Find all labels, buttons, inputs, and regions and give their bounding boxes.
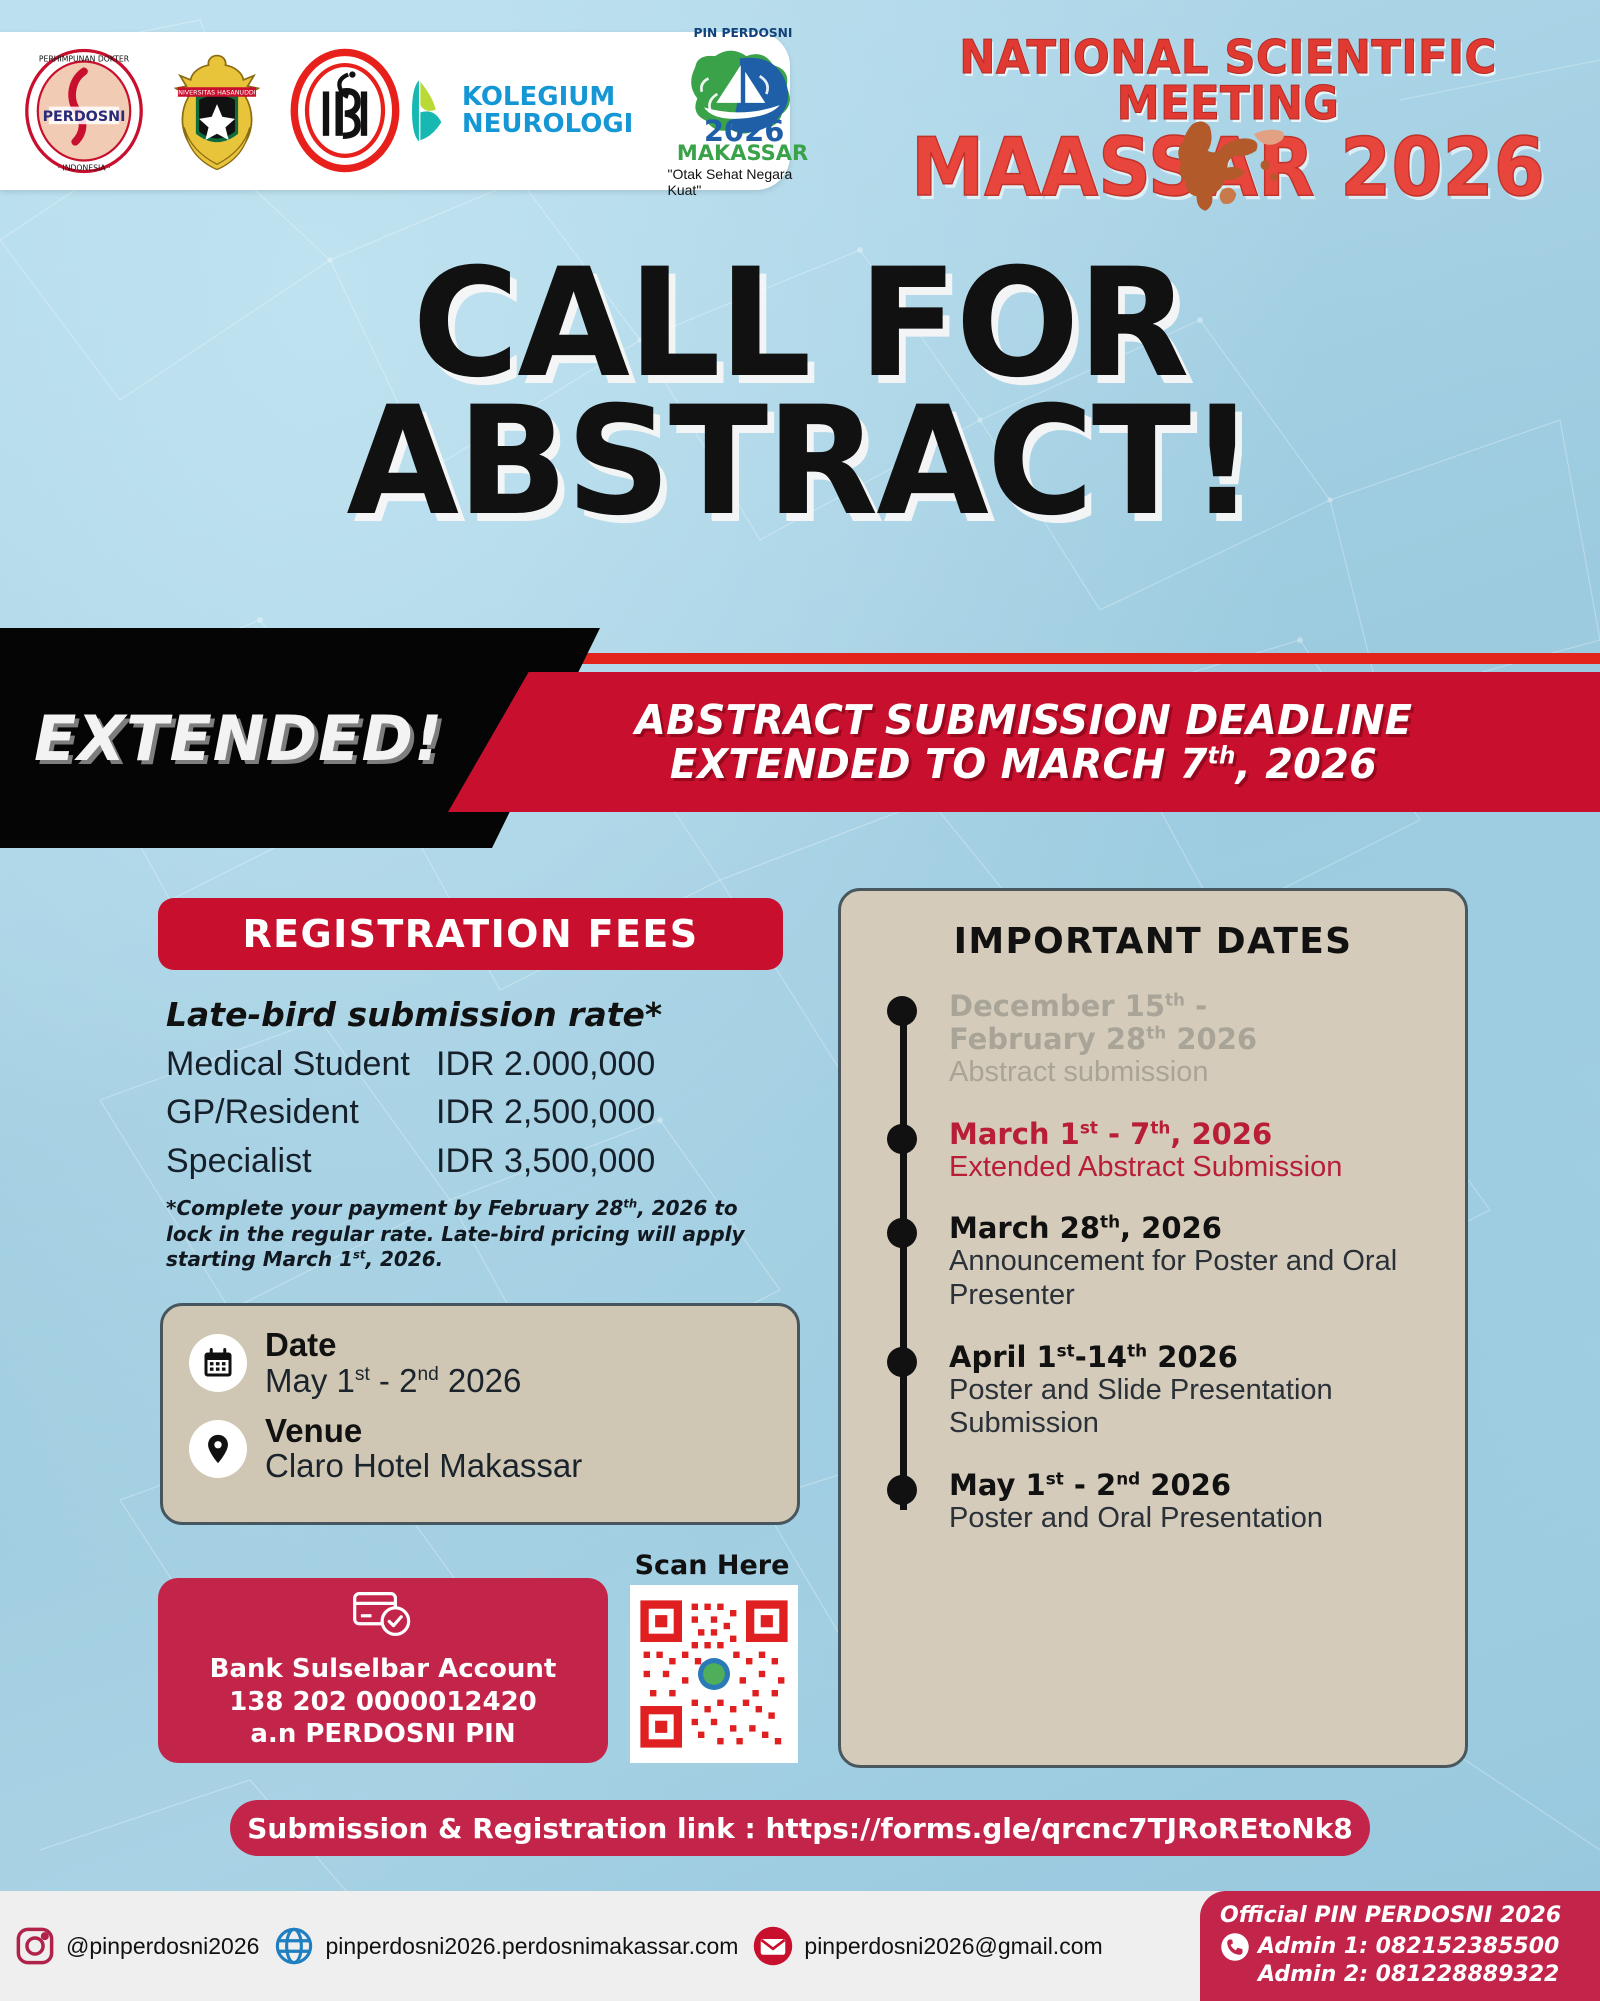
instagram-contact[interactable]: @pinperdosni2026 xyxy=(14,1925,259,1967)
timeline-dot xyxy=(887,1124,917,1154)
tl0-b: - xyxy=(1185,989,1207,1023)
date-part-b: - 2 xyxy=(370,1362,418,1399)
tl0-d: 2026 xyxy=(1166,1022,1257,1056)
timeline-desc: Poster and Slide Presentation Submission xyxy=(949,1374,1432,1441)
table-row: GP/Resident IDR 2,500,000 xyxy=(166,1088,786,1136)
tl1-b: - 7 xyxy=(1098,1117,1150,1151)
title-line-1: CALL FOR xyxy=(24,255,1576,393)
fee-name: GP/Resident xyxy=(166,1088,436,1136)
timeline-desc: Poster and Oral Presentation xyxy=(949,1502,1432,1536)
date-part-a: May 1 xyxy=(265,1362,355,1399)
fee-name: Specialist xyxy=(166,1137,436,1185)
extended-label: EXTENDED! xyxy=(34,702,443,775)
tl2-b: , 2026 xyxy=(1120,1211,1222,1245)
timeline-date: March 1st - 7th, 2026 xyxy=(949,1118,1432,1151)
deadline-line-1: ABSTRACT SUBMISSION DEADLINE xyxy=(635,698,1412,742)
credit-card-check-icon xyxy=(352,1591,414,1646)
venue-row: Venue Claro Hotel Makassar xyxy=(189,1414,771,1486)
svg-text:· INDONESIA ·: · INDONESIA · xyxy=(58,163,111,172)
fee-footnote: *Complete your payment by February 28th,… xyxy=(166,1196,786,1273)
table-row: Specialist IDR 3,500,000 xyxy=(166,1137,786,1185)
kolegium-label-1: KOLEGIUM NEUROLOGI xyxy=(462,84,662,139)
instagram-icon xyxy=(14,1925,56,1967)
tl1-sa: st xyxy=(1080,1117,1098,1137)
official-title: Official PIN PERDOSNI 2026 xyxy=(1220,1903,1600,1930)
fee-name: Medical Student xyxy=(166,1040,436,1088)
tl3-sa: st xyxy=(1057,1340,1075,1360)
tl1-a: March 1 xyxy=(949,1117,1080,1151)
envelope-icon xyxy=(752,1925,794,1967)
timeline: December 15th - February 28th 2026 Abstr… xyxy=(887,990,1432,1536)
timeline-dot xyxy=(887,1218,917,1248)
tl4-sb: nd xyxy=(1116,1468,1140,1488)
instagram-handle: @pinperdosni2026 xyxy=(66,1933,259,1960)
tl3-c: 2026 xyxy=(1147,1340,1238,1374)
bank-line-1: Bank Sulselbar Account xyxy=(210,1653,557,1686)
tl4-b: - 2 xyxy=(1064,1468,1116,1502)
admin-1-row[interactable]: Admin 1: 082152385500 xyxy=(1220,1932,1600,1962)
tl0-a: December 15 xyxy=(949,989,1165,1023)
official-contact-card: Official PIN PERDOSNI 2026 Admin 1: 0821… xyxy=(1200,1891,1600,2001)
date-label: Date xyxy=(265,1328,521,1363)
date-value: May 1st - 2nd 2026 xyxy=(265,1363,521,1400)
bank-line-3: a.n PERDOSNI PIN xyxy=(250,1718,515,1751)
tl0-sa: th xyxy=(1165,989,1185,1009)
deadline-banner: EXTENDED! ABSTRACT SUBMISSION DEADLINE E… xyxy=(0,620,1600,850)
deadline-text-block: ABSTRACT SUBMISSION DEADLINE EXTENDED TO… xyxy=(448,672,1600,812)
tl4-c: 2026 xyxy=(1140,1468,1231,1502)
important-dates-heading: IMPORTANT DATES xyxy=(841,921,1465,962)
header-makassar-part-a: MA xyxy=(911,121,1041,214)
sulawesi-island-icon xyxy=(1156,110,1294,230)
date-venue-card: Date May 1st - 2nd 2026 Venue Claro Hote… xyxy=(160,1303,800,1525)
tl3-a: April 1 xyxy=(949,1340,1057,1374)
phone-icon xyxy=(1220,1932,1250,1962)
list-item: April 1st-14th 2026 Poster and Slide Pre… xyxy=(887,1341,1432,1441)
fee-footnote-a: *Complete your payment by February 28 xyxy=(166,1196,623,1220)
website-contact[interactable]: pinperdosni2026.perdosnimakassar.com xyxy=(273,1925,738,1967)
tl3-b: -14 xyxy=(1075,1340,1127,1374)
header-line-2: MAASSAR 2026 xyxy=(906,128,1550,208)
svg-text:PERDOSNI: PERDOSNI xyxy=(43,109,126,125)
universitas-hasanuddin-logo: UNIVERSITAS HASANUDDIN xyxy=(156,45,278,177)
fee-footnote-sup-b: st xyxy=(353,1248,365,1262)
svg-text:PIN PERDOSNI: PIN PERDOSNI xyxy=(693,26,792,40)
date-sup-1: st xyxy=(355,1364,370,1385)
tl2-sa: th xyxy=(1100,1212,1120,1232)
date-part-c: 2026 xyxy=(439,1362,522,1399)
table-row: Medical Student IDR 2.000,000 xyxy=(166,1040,786,1088)
timeline-desc: Extended Abstract Submission xyxy=(949,1151,1432,1185)
pin-perdosni-makassar-logo: PIN PERDOSNI 2026 MAKASSAR "Otak Sehat N… xyxy=(668,25,818,198)
kolegium-neurologi-logo: KOLEGIUM NEUROLOGI xyxy=(412,52,662,170)
fee-table: Medical Student IDR 2.000,000 GP/Residen… xyxy=(166,1040,786,1185)
admin-2-phone: Admin 2: 081228889322 xyxy=(1258,1962,1559,1989)
timeline-dot xyxy=(887,1347,917,1377)
submission-link-bar[interactable]: Submission & Registration link : https:/… xyxy=(230,1800,1370,1856)
website-url: pinperdosni2026.perdosnimakassar.com xyxy=(325,1933,738,1960)
makassar-label: MAKASSAR xyxy=(677,143,808,164)
timeline-desc: Announcement for Poster and Oral Present… xyxy=(949,1245,1432,1312)
map-pin-icon xyxy=(189,1420,247,1478)
venue-value: Claro Hotel Makassar xyxy=(265,1448,582,1485)
tl1-c: , 2026 xyxy=(1170,1117,1272,1151)
fee-price: IDR 3,500,000 xyxy=(436,1137,786,1185)
list-item: March 1st - 7th, 2026 Extended Abstract … xyxy=(887,1118,1432,1185)
registration-fees-heading: REGISTRATION FEES xyxy=(158,898,783,970)
perdosni-logo: PERDOSNI PERHIMPUNAN DOKTER · INDONESIA … xyxy=(18,45,150,177)
fee-footnote-c: , 2026. xyxy=(365,1247,443,1271)
title-line-2: ABSTRACT! xyxy=(24,393,1576,531)
venue-label: Venue xyxy=(265,1414,582,1449)
accent-rule-top xyxy=(440,653,1600,664)
timeline-desc: Abstract submission xyxy=(949,1056,1432,1090)
qr-code-icon[interactable] xyxy=(630,1585,798,1763)
scan-here-label: Scan Here xyxy=(628,1550,796,1581)
tl4-a: May 1 xyxy=(949,1468,1046,1502)
deadline-line-2: EXTENDED TO MARCH 7th, 2026 xyxy=(670,742,1377,786)
date-sup-2: nd xyxy=(417,1364,438,1385)
sponsor-logo-bar: PERDOSNI PERHIMPUNAN DOKTER · INDONESIA … xyxy=(0,32,790,190)
tl4-sa: st xyxy=(1046,1468,1064,1488)
globe-icon xyxy=(273,1925,315,1967)
tl0-c: February 28 xyxy=(949,1022,1146,1056)
email-contact[interactable]: pinperdosni2026@gmail.com xyxy=(752,1925,1102,1967)
list-item: May 1st - 2nd 2026 Poster and Oral Prese… xyxy=(887,1469,1432,1536)
list-item: March 28th, 2026 Announcement for Poster… xyxy=(887,1212,1432,1312)
page-title: CALL FOR ABSTRACT! xyxy=(24,255,1576,531)
event-header: NATIONAL SCIENTIFIC MEETING MAASSAR 2026 xyxy=(878,34,1578,208)
late-bird-rate-label: Late-bird submission rate* xyxy=(166,995,662,1034)
tl3-sb: th xyxy=(1127,1340,1147,1360)
deadline-sup: th xyxy=(1208,741,1236,769)
bank-line-2: 138 202 0000012420 xyxy=(229,1686,537,1719)
admin-2-row[interactable]: Admin 2: 081228889322 xyxy=(1220,1962,1600,1989)
timeline-date: April 1st-14th 2026 xyxy=(949,1341,1432,1374)
fee-price: IDR 2,500,000 xyxy=(436,1088,786,1136)
svg-text:UNIVERSITAS HASANUDDIN: UNIVERSITAS HASANUDDIN xyxy=(174,90,261,97)
fee-footnote-sup-a: th xyxy=(623,1196,637,1210)
list-item: December 15th - February 28th 2026 Abstr… xyxy=(887,990,1432,1090)
calendar-icon xyxy=(189,1334,247,1392)
timeline-date: May 1st - 2nd 2026 xyxy=(949,1469,1432,1502)
svg-text:PERHIMPUNAN DOKTER: PERHIMPUNAN DOKTER xyxy=(39,55,130,64)
email-address: pinperdosni2026@gmail.com xyxy=(804,1933,1102,1960)
fee-price: IDR 2.000,000 xyxy=(436,1040,786,1088)
tl1-sb: th xyxy=(1150,1117,1170,1137)
timeline-dot xyxy=(887,996,917,1026)
date-row: Date May 1st - 2nd 2026 xyxy=(189,1328,771,1400)
bank-account-box: Bank Sulselbar Account 138 202 000001242… xyxy=(158,1578,608,1763)
tl2-a: March 28 xyxy=(949,1211,1100,1245)
timeline-date: December 15th - February 28th 2026 xyxy=(949,990,1432,1056)
timeline-date: March 28th, 2026 xyxy=(949,1212,1432,1245)
deadline-post: , 2026 xyxy=(1236,740,1377,788)
tagline-label: "Otak Sehat Negara Kuat" xyxy=(668,166,818,198)
timeline-dot xyxy=(887,1475,917,1505)
idi-logo xyxy=(284,45,406,177)
tl0-sc: th xyxy=(1146,1022,1166,1042)
admin-1-phone: Admin 1: 082152385500 xyxy=(1258,1934,1559,1961)
important-dates-card: IMPORTANT DATES December 15th - February… xyxy=(838,888,1468,1768)
deadline-pre: EXTENDED TO MARCH 7 xyxy=(670,740,1208,788)
